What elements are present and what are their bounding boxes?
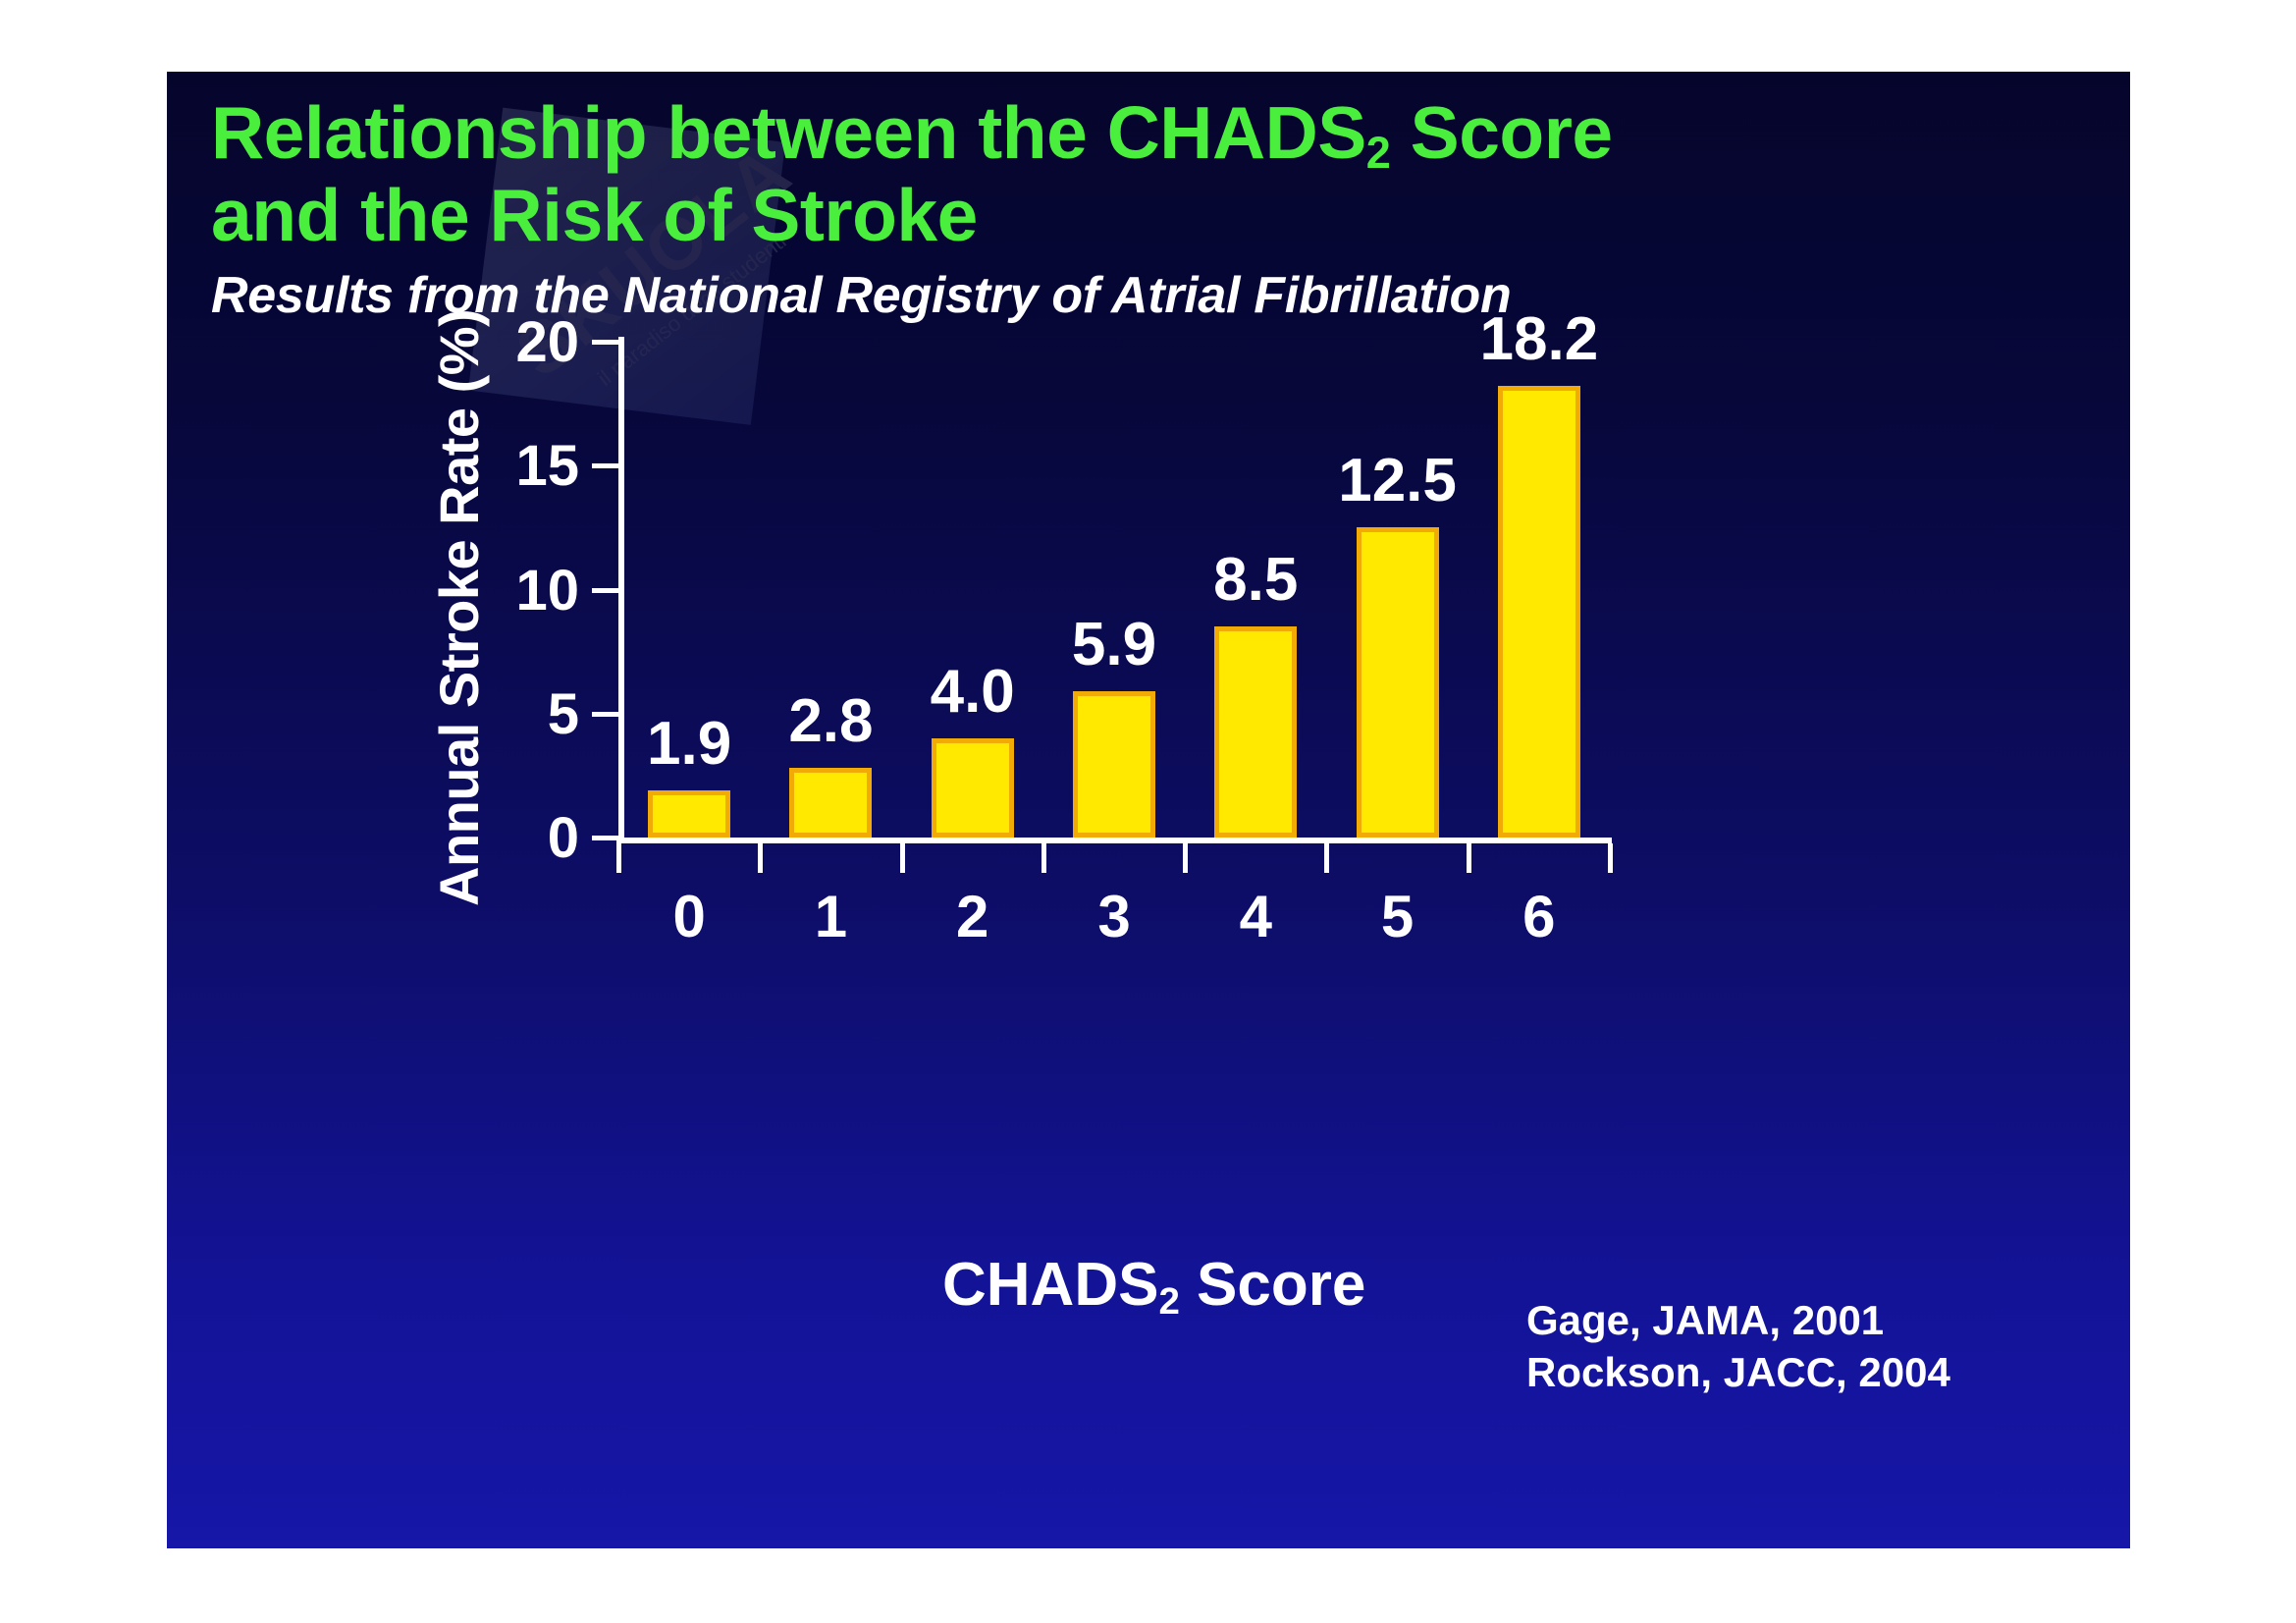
title-line1-post: Score [1390, 91, 1612, 174]
y-tick [592, 836, 619, 840]
bar-value-label: 5.9 [1016, 615, 1212, 676]
bar [1498, 386, 1580, 838]
bar [932, 738, 1014, 838]
x-tick [1608, 843, 1613, 873]
y-tick [592, 340, 619, 345]
x-tick-label: 1 [786, 888, 875, 947]
bar [1214, 626, 1297, 838]
x-axis-line [616, 838, 1612, 843]
y-tick-label: 0 [432, 810, 579, 867]
bar [1073, 691, 1155, 838]
bar-value-label: 8.5 [1157, 550, 1354, 611]
title-subscript: 2 [1366, 128, 1391, 178]
slide-canvas: SKUOLA il paradiso degli studenti Relati… [167, 72, 2130, 1548]
y-tick [592, 588, 619, 593]
bar [1357, 527, 1439, 838]
x-axis-title: CHADS2 Score [942, 1250, 1365, 1320]
x-axis-title-text2: Score [1180, 1251, 1366, 1319]
x-tick-label: 2 [929, 888, 1017, 947]
x-tick-label: 3 [1070, 888, 1158, 947]
plot-area: 1.92.84.05.98.512.518.2 0123456 [618, 342, 1610, 838]
bar [648, 790, 730, 838]
bar-value-label: 18.2 [1441, 309, 1637, 370]
bar-value-label: 12.5 [1300, 451, 1496, 512]
x-axis-title-subscript: 2 [1158, 1280, 1179, 1323]
x-tick [1324, 843, 1329, 873]
citation-line-1: Gage, JAMA, 2001 [1526, 1294, 1950, 1346]
x-tick-label: 6 [1495, 888, 1583, 947]
x-tick-label: 5 [1354, 888, 1442, 947]
title-line2: and the Risk of Stroke [211, 174, 978, 256]
title-line1-pre: Relationship between the CHADS [211, 91, 1366, 174]
x-tick [1183, 843, 1188, 873]
x-tick [1467, 843, 1471, 873]
x-tick-label: 4 [1211, 888, 1300, 947]
x-axis-title-text: CHADS [942, 1251, 1158, 1319]
citation-line-2: Rockson, JACC, 2004 [1526, 1346, 1950, 1398]
y-tick-label: 10 [432, 563, 579, 620]
x-tick [616, 843, 621, 873]
slide-title: Relationship between the CHADS2 Score an… [211, 91, 2076, 256]
bar [789, 768, 872, 838]
y-tick-label: 20 [432, 314, 579, 371]
citation-block: Gage, JAMA, 2001 Rockson, JACC, 2004 [1526, 1294, 1950, 1399]
x-tick [1041, 843, 1046, 873]
x-tick [758, 843, 763, 873]
y-tick-label: 5 [432, 686, 579, 743]
y-tick [592, 463, 619, 468]
x-tick-label: 0 [645, 888, 733, 947]
x-tick [900, 843, 905, 873]
y-tick-label: 15 [432, 438, 579, 495]
